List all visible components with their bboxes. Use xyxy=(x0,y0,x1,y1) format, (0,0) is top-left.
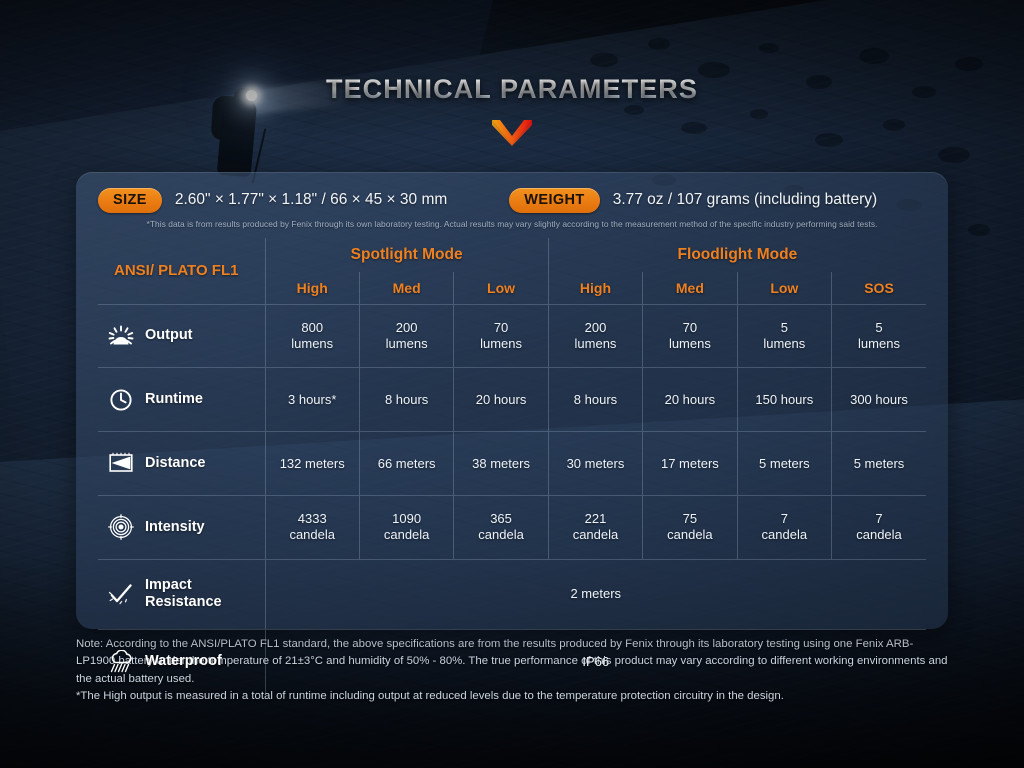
cell-distance-flood-med: 17 meters xyxy=(643,432,737,496)
table-row: Intensity 4333 candela 1090 candela 365 … xyxy=(98,495,926,559)
cell-distance-flood-high: 30 meters xyxy=(548,432,642,496)
cell-output-flood-med: 70 lumens xyxy=(643,304,737,368)
cell-distance-spot-med: 66 meters xyxy=(359,432,453,496)
table-row: Waterproof IP66 xyxy=(98,630,926,693)
row-label-output: Output xyxy=(98,304,265,368)
cell-runtime-spot-med: 8 hours xyxy=(359,368,453,432)
row-label-text: Runtime xyxy=(145,391,203,408)
cell-output-spot-med: 200 lumens xyxy=(359,304,453,368)
cell-output-spot-high: 800 lumens xyxy=(265,304,359,368)
table-row: Runtime 3 hours* 8 hours 20 hours 8 hour… xyxy=(98,368,926,432)
cell-distance-flood-low: 5 meters xyxy=(737,432,831,496)
cell-waterproof-value: IP66 xyxy=(265,630,926,693)
cell-runtime-flood-med: 20 hours xyxy=(643,368,737,432)
cell-intensity-flood-high: 221 candela xyxy=(548,495,642,559)
row-label-distance: Distance xyxy=(98,432,265,496)
row-label-intensity: Intensity xyxy=(98,495,265,559)
level-floodlight-high: High xyxy=(548,272,642,304)
cell-intensity-flood-sos: 7 candela xyxy=(832,495,926,559)
level-floodlight-low: Low xyxy=(737,272,831,304)
table-row: Output 800 lumens 200 lumens 70 lumens 2… xyxy=(98,304,926,368)
weight-value: 3.77 oz / 107 grams (including battery) xyxy=(613,191,878,209)
table-row: Distance 132 meters 66 meters 38 meters … xyxy=(98,432,926,496)
size-value: 2.60" × 1.77" × 1.18" / 66 × 45 × 30 mm xyxy=(175,191,447,209)
cell-intensity-spot-low: 365 candela xyxy=(454,495,548,559)
table-row: Impact Resistance 2 meters xyxy=(98,559,926,630)
weight-badge: WEIGHT xyxy=(509,188,599,213)
row-label-text: Output xyxy=(145,327,193,344)
level-spotlight-low: Low xyxy=(454,272,548,304)
level-floodlight-med: Med xyxy=(643,272,737,304)
page-title: TECHNICAL PARAMETERS xyxy=(326,74,698,105)
row-label-waterproof: Waterproof xyxy=(98,630,265,693)
cell-intensity-spot-high: 4333 candela xyxy=(265,495,359,559)
cell-distance-spot-low: 38 meters xyxy=(454,432,548,496)
level-spotlight-high: High xyxy=(265,272,359,304)
target-icon xyxy=(106,513,136,541)
chevron-down-icon xyxy=(490,119,534,147)
clock-icon xyxy=(106,386,136,414)
cell-output-flood-low: 5 lumens xyxy=(737,304,831,368)
cell-intensity-flood-low: 7 candela xyxy=(737,495,831,559)
cell-output-flood-high: 200 lumens xyxy=(548,304,642,368)
ansi-plato-header: ANSI/ PLATO FL1 xyxy=(98,238,265,304)
specifications-table: ANSI/ PLATO FL1 Spotlight Mode Floodligh… xyxy=(98,238,926,693)
cell-impact-resistance-value: 2 meters xyxy=(265,559,926,630)
row-label-impact-resistance: Impact Resistance xyxy=(98,559,265,630)
table-header-mode-row: ANSI/ PLATO FL1 Spotlight Mode Floodligh… xyxy=(98,238,926,272)
spec-summary-row: SIZE 2.60" × 1.77" × 1.18" / 66 × 45 × 3… xyxy=(98,185,926,215)
spotlight-mode-header: Spotlight Mode xyxy=(265,238,548,272)
cell-output-spot-low: 70 lumens xyxy=(454,304,548,368)
cell-runtime-flood-low: 150 hours xyxy=(737,368,831,432)
size-badge: SIZE xyxy=(98,188,162,213)
cell-runtime-flood-high: 8 hours xyxy=(548,368,642,432)
lab-testing-disclaimer: *This data is from results produced by F… xyxy=(98,219,926,229)
cell-intensity-flood-med: 75 candela xyxy=(643,495,737,559)
technical-parameters-panel: SIZE 2.60" × 1.77" × 1.18" / 66 × 45 × 3… xyxy=(76,172,948,629)
rain-cloud-icon xyxy=(106,648,136,676)
title-block: TECHNICAL PARAMETERS xyxy=(0,74,1024,147)
floodlight-mode-header: Floodlight Mode xyxy=(548,238,926,272)
cell-runtime-flood-sos: 300 hours xyxy=(832,368,926,432)
row-label-text: Intensity xyxy=(145,519,205,536)
row-label-text: Distance xyxy=(145,455,205,472)
cell-runtime-spot-low: 20 hours xyxy=(454,368,548,432)
row-label-runtime: Runtime xyxy=(98,368,265,432)
cell-distance-flood-sos: 5 meters xyxy=(832,432,926,496)
cell-distance-spot-high: 132 meters xyxy=(265,432,359,496)
chevron-down-decoration xyxy=(0,119,1024,147)
impact-check-icon xyxy=(106,580,136,608)
cell-intensity-spot-med: 1090 candela xyxy=(359,495,453,559)
level-floodlight-sos: SOS xyxy=(832,272,926,304)
beam-distance-icon xyxy=(106,449,136,477)
sunburst-icon xyxy=(106,322,136,350)
row-label-text: Waterproof xyxy=(145,653,222,670)
cell-runtime-spot-high: 3 hours* xyxy=(265,368,359,432)
level-spotlight-med: Med xyxy=(359,272,453,304)
cell-output-flood-sos: 5 lumens xyxy=(832,304,926,368)
row-label-text: Impact Resistance xyxy=(145,577,222,612)
